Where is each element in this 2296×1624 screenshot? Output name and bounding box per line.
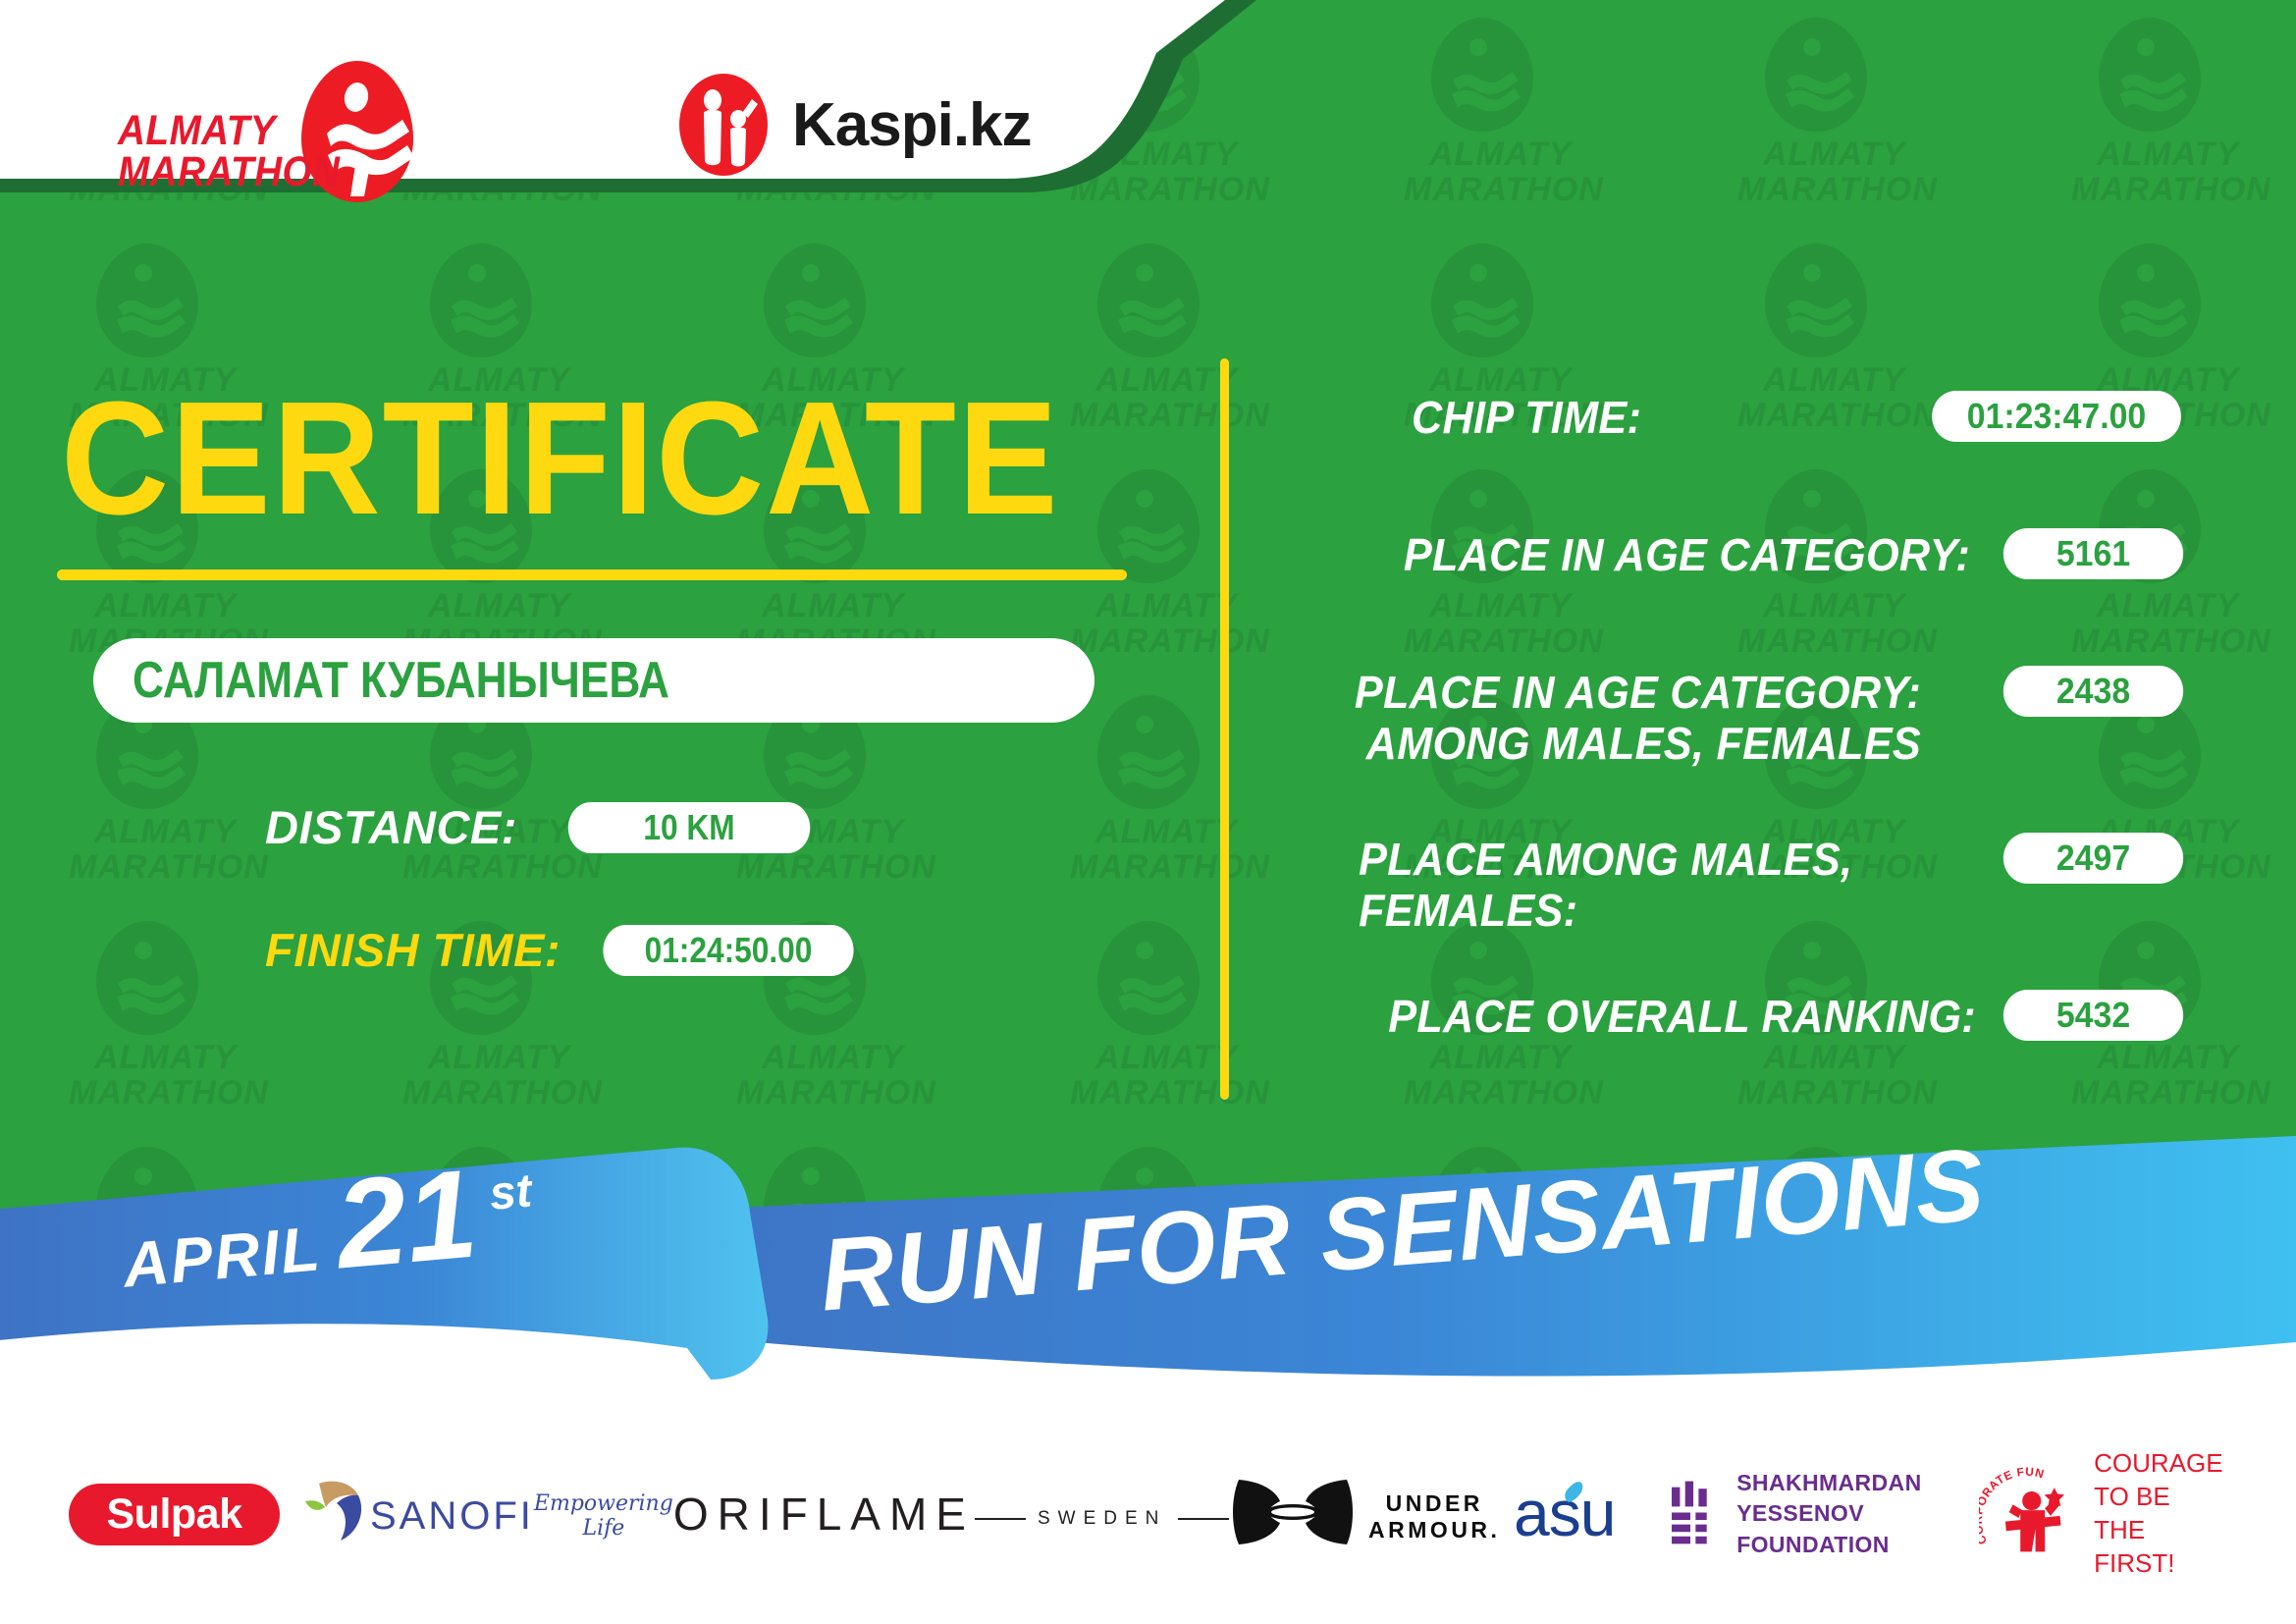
svg-text:asu: asu: [1514, 1477, 1615, 1549]
place-age-category-value: 5161: [2056, 533, 2130, 574]
place-age-category-label: PLACE IN AGE CATEGORY:: [1404, 530, 1970, 581]
certificate-canvas: ALMATY MARATHON: [0, 0, 2296, 1624]
almaty-marathon-wordmark: ALMATY MARATHON: [118, 110, 356, 192]
distance-value: 10 KM: [643, 807, 734, 848]
almaty-marathon-logo: ALMATY MARATHON: [118, 59, 442, 216]
ribbon-shape: APRIL 21 st RUN FOR SENSATIONS: [0, 1085, 2296, 1409]
place-among-gender-value-pill: 2497: [2003, 833, 2183, 884]
courage-line-1: COURAGE: [2094, 1447, 2227, 1481]
result-row-age-category: PLACE IN AGE CATEGORY: 5161: [1306, 530, 2189, 581]
almaty-line: ALMATY: [118, 110, 356, 151]
sponsor-under-armour: UNDER ARMOUR.: [1229, 1476, 1512, 1553]
sanofi-tagline: Empowering Life: [534, 1491, 673, 1541]
participant-name: САЛАМАТ КУБАНЫЧЕВА: [133, 651, 669, 710]
distance-row: DISTANCE: 10 KM: [265, 800, 827, 854]
place-overall-value: 5432: [2056, 995, 2130, 1036]
place-overall-label: PLACE OVERALL RANKING:: [1388, 992, 1976, 1043]
place-age-category-value-pill: 5161: [2003, 528, 2183, 579]
yessenov-line-2: FOUNDATION: [1736, 1530, 1978, 1560]
kaspi-logo: Kaspi.kz: [677, 71, 1032, 179]
finish-time-value: 01:24:50.00: [645, 930, 813, 971]
header-logos: ALMATY MARATHON Kaspi.kz: [0, 0, 1217, 265]
ribbon-day: 21: [329, 1144, 482, 1296]
sanofi-wordmark: SANOFI: [370, 1494, 534, 1539]
distance-label: DISTANCE:: [265, 800, 517, 854]
finish-time-label: FINISH TIME:: [265, 923, 561, 977]
place-age-category-gender-value: 2438: [2056, 671, 2130, 712]
oriflame-wordmark: ORIFLAME: [673, 1488, 975, 1541]
title-underline: [57, 569, 1127, 580]
sponsor-courage-fund: CORPORATE FUND COURAGE TO BE THE FIRST!: [1979, 1447, 2227, 1580]
sponsor-sulpak: Sulpak: [69, 1484, 280, 1545]
courage-to-be-first-mark-icon: CORPORATE FUND: [1979, 1465, 2081, 1563]
marathon-line: MARATHON: [118, 151, 356, 192]
place-age-category-gender-value-pill: 2438: [2003, 666, 2183, 717]
sponsor-bar: Sulpak SANOFI Empowering Life ORIFLAME S…: [0, 1404, 2296, 1624]
page-title: CERTIFICATE: [61, 378, 1059, 539]
sponsor-yessenov-foundation: SHAKHMARDAN YESSENOV FOUNDATION: [1669, 1468, 1978, 1559]
label-line-2: AMONG MALES, FEMALES: [1355, 719, 1921, 770]
yessenov-foundation-wordmark: SHAKHMARDAN YESSENOV FOUNDATION: [1736, 1468, 1978, 1559]
place-age-category-gender-label: PLACE IN AGE CATEGORY: AMONG MALES, FEMA…: [1355, 668, 1921, 769]
sponsor-oriflame: ORIFLAME SWEDEN: [673, 1488, 1230, 1541]
place-among-gender-label: PLACE AMONG MALES, FEMALES:: [1359, 835, 1852, 936]
yessenov-foundation-mark-icon: [1669, 1471, 1715, 1557]
courage-fund-wordmark: COURAGE TO BE THE FIRST!: [2094, 1447, 2227, 1580]
chip-time-label: CHIP TIME:: [1412, 393, 1641, 444]
rule-left: [975, 1518, 1026, 1520]
kaspi-people-icon: [677, 74, 771, 177]
sponsor-asu: asu: [1512, 1475, 1669, 1553]
sponsor-sanofi: SANOFI Empowering Life: [280, 1480, 673, 1549]
chip-time-value-pill: 01:23:47.00: [1932, 391, 2181, 442]
courage-line-2: TO BE: [2094, 1481, 2227, 1514]
oriflame-tagline: SWEDEN: [1038, 1508, 1166, 1530]
chip-time-value: 01:23:47.00: [1967, 396, 2147, 437]
ribbon-day-suffix: st: [488, 1164, 536, 1220]
courage-line-3: THE FIRST!: [2094, 1514, 2227, 1581]
result-row-among-gender: PLACE AMONG MALES, FEMALES: 2497: [1306, 835, 2189, 936]
place-among-gender-value: 2497: [2056, 838, 2130, 879]
oriflame-sub: SWEDEN: [975, 1508, 1229, 1530]
distance-value-pill: 10 KM: [568, 802, 810, 853]
under-armour-wordmark: UNDER ARMOUR.: [1357, 1490, 1512, 1543]
sulpak-logo: Sulpak: [69, 1484, 280, 1545]
under-armour-mark-icon: [1229, 1476, 1357, 1553]
rule-right: [1178, 1518, 1229, 1520]
label-line-1: PLACE AMONG MALES,: [1359, 835, 1852, 886]
sanofi-mark-icon: [280, 1480, 370, 1549]
label-line-1: PLACE IN AGE CATEGORY:: [1355, 668, 1921, 719]
finish-time-row: FINISH TIME: 01:24:50.00: [265, 923, 871, 977]
participant-name-field: САЛАМАТ КУБАНЫЧЕВА: [93, 638, 1095, 723]
yessenov-line-1: SHAKHMARDAN YESSENOV: [1736, 1468, 1978, 1529]
asu-logo: asu: [1512, 1475, 1669, 1553]
vertical-divider: [1220, 358, 1229, 1100]
place-overall-value-pill: 5432: [2003, 990, 2183, 1041]
finish-time-value-pill: 01:24:50.00: [603, 925, 853, 976]
result-row-age-category-gender: PLACE IN AGE CATEGORY: AMONG MALES, FEMA…: [1306, 668, 2189, 769]
label-line-2: FEMALES:: [1359, 886, 1852, 937]
result-row-overall: PLACE OVERALL RANKING: 5432: [1306, 992, 2189, 1043]
event-ribbon: APRIL 21 st RUN FOR SENSATIONS: [0, 1085, 2296, 1409]
kaspi-wordmark: Kaspi.kz: [792, 90, 1032, 160]
result-row-chip-time: CHIP TIME: 01:23:47.00: [1306, 393, 2189, 444]
